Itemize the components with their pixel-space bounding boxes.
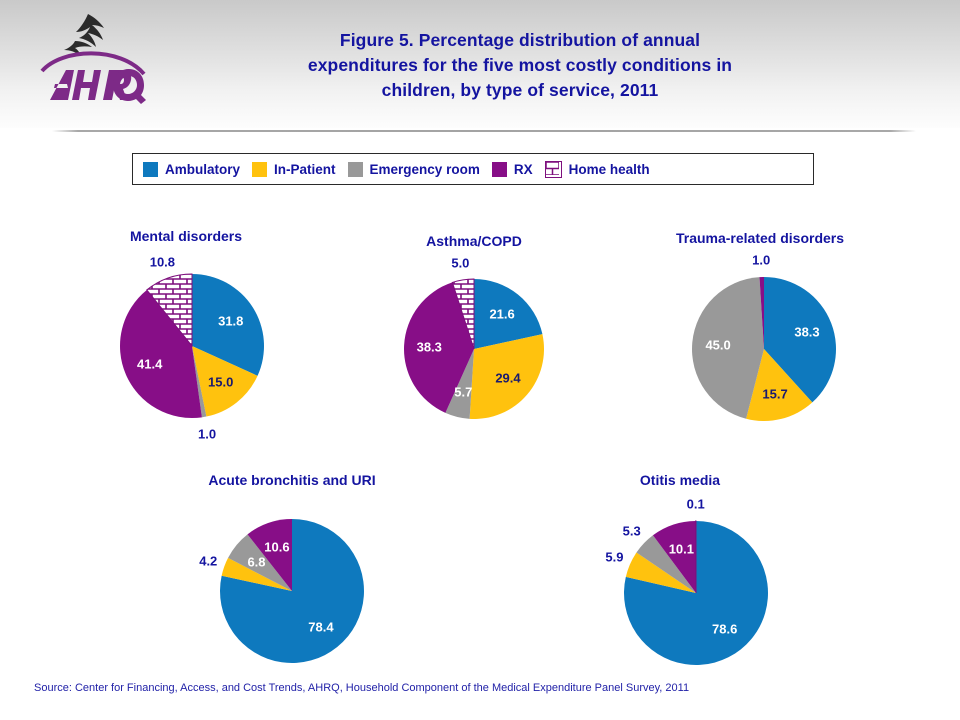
chart-title-asthma-copd: Asthma/COPD [384,233,564,249]
legend-swatch-emergency-room [348,162,363,177]
pie-svg-trauma-related-disorders [640,246,850,445]
legend-item-in-patient[interactable]: In-Patient [252,162,336,177]
legend-label-home-health: Home health [569,162,650,177]
chart-mental-disorders: Mental disorders31.815.01.041.410.8 [96,228,278,442]
pie-value-label-ambulatory: 21.6 [489,307,514,322]
legend-swatch-home-health [545,161,562,178]
legend-swatch-rx [492,162,507,177]
pie-mental-disorders: 31.815.01.041.410.8 [96,244,278,442]
pie-value-label-ambulatory: 78.4 [308,619,333,634]
pie-svg-asthma-copd [384,249,558,443]
header-divider [52,130,916,132]
pie-value-label-in-patient: 5.9 [605,550,623,565]
legend: AmbulatoryIn-PatientEmergency roomRXHome… [132,153,814,185]
ahrq-wordmark [50,69,146,104]
footer-band [0,706,960,720]
legend-label-ambulatory: Ambulatory [165,162,240,177]
pie-value-label-emergency-room: 5.3 [623,524,641,539]
pie-otitis-media: 78.65.95.310.10.1 [560,488,782,689]
source-note: Source: Center for Financing, Access, an… [34,682,689,694]
pie-value-label-home-health: 0.1 [687,497,705,512]
page-title-line-2: expenditures for the five most costly co… [240,53,800,78]
chart-acute-bronchitis-and-uri: Acute bronchitis and URI78.44.26.810.6 [176,472,408,687]
pie-value-label-rx: 38.3 [417,339,442,354]
pie-value-label-ambulatory: 31.8 [218,314,243,329]
legend-swatch-ambulatory [143,162,158,177]
pie-value-label-in-patient: 29.4 [495,371,520,386]
pie-value-label-home-health: 10.8 [150,255,175,270]
pie-value-label-emergency-room: 1.0 [198,426,216,441]
pie-svg-acute-bronchitis-and-uri [176,488,378,687]
pie-value-label-rx: 10.1 [669,542,694,557]
hhs-eagle-icon [64,14,104,56]
pie-svg-mental-disorders [96,244,278,442]
pie-value-label-rx: 41.4 [137,357,162,372]
legend-item-emergency-room[interactable]: Emergency room [348,162,480,177]
pie-value-label-rx: 10.6 [264,540,289,555]
pie-value-label-rx: 1.0 [752,253,770,268]
legend-swatch-inpatient [252,162,267,177]
page-title: Figure 5. Percentage distribution of ann… [240,28,800,103]
page-header: Figure 5. Percentage distribution of ann… [0,0,960,128]
pie-value-label-emergency-room: 6.8 [247,554,265,569]
legend-item-rx[interactable]: RX [492,162,533,177]
pie-value-label-ambulatory: 38.3 [794,325,819,340]
pie-asthma-copd: 21.629.45.738.35.0 [384,249,558,443]
ahrq-logo-svg [28,8,158,108]
chart-title-acute-bronchitis-and-uri: Acute bronchitis and URI [176,472,408,488]
chart-trauma-related-disorders: Trauma-related disorders38.315.745.01.0 [640,230,880,445]
pie-acute-bronchitis-and-uri: 78.44.26.810.6 [176,488,378,687]
pie-value-label-ambulatory: 78.6 [712,622,737,637]
chart-title-trauma-related-disorders: Trauma-related disorders [640,230,880,246]
pie-trauma-related-disorders: 38.315.745.01.0 [640,246,850,445]
chart-otitis-media: Otitis media78.65.95.310.10.1 [560,472,800,689]
pie-svg-otitis-media [560,488,782,689]
chart-title-otitis-media: Otitis media [560,472,800,488]
page-title-line-1: Figure 5. Percentage distribution of ann… [240,28,800,53]
ahrq-logo [28,8,158,108]
chart-asthma-copd: Asthma/COPD21.629.45.738.35.0 [384,233,564,443]
legend-item-ambulatory[interactable]: Ambulatory [143,162,240,177]
pie-value-label-emergency-room: 45.0 [705,337,730,352]
legend-label-rx: RX [514,162,533,177]
chart-title-mental-disorders: Mental disorders [96,228,276,244]
legend-item-home-health[interactable]: Home health [545,161,650,178]
legend-label-emergency-room: Emergency room [370,162,480,177]
pie-value-label-home-health: 5.0 [451,256,469,271]
pie-value-label-in-patient: 15.7 [762,386,787,401]
pie-value-label-in-patient: 4.2 [199,553,217,568]
pie-value-label-emergency-room: 5.7 [454,385,472,400]
pie-value-label-in-patient: 15.0 [208,375,233,390]
page-title-line-3: children, by type of service, 2011 [240,78,800,103]
legend-label-in-patient: In-Patient [274,162,336,177]
